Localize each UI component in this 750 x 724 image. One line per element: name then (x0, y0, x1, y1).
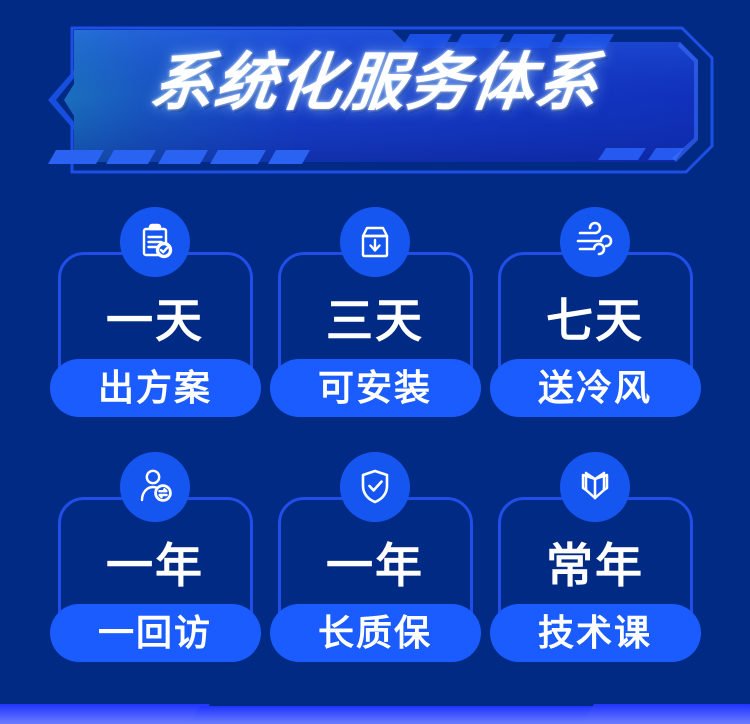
clipboard-check-icon (120, 207, 190, 277)
shield-check-icon (340, 452, 410, 522)
service-card[interactable]: 一天 出方案 (58, 207, 253, 452)
page-title: 系统化服务体系 (0, 46, 750, 120)
card-main-text: 一年 (58, 540, 253, 592)
service-card[interactable]: 三天 可安装 (278, 207, 473, 452)
header-banner: 系统化服务体系 (0, 0, 750, 190)
open-book-icon (560, 452, 630, 522)
card-main-text: 三天 (278, 295, 473, 347)
card-main-text: 常年 (498, 540, 693, 592)
card-pill-label: 一回访 (98, 614, 212, 652)
card-pill[interactable]: 出方案 (50, 359, 261, 417)
card-pill[interactable]: 技术课 (490, 604, 701, 662)
service-card-grid: 一天 出方案 三天 可安装 七天 (55, 207, 695, 697)
next-section-strip (0, 702, 750, 724)
card-pill-label: 技术课 (538, 614, 652, 652)
user-return-icon (120, 452, 190, 522)
card-pill[interactable]: 送冷风 (490, 359, 701, 417)
service-card[interactable]: 常年 技术课 (498, 452, 693, 697)
card-pill-label: 出方案 (98, 369, 212, 407)
service-card[interactable]: 七天 送冷风 (498, 207, 693, 452)
card-pill-label: 可安装 (318, 369, 432, 407)
card-main-text: 七天 (498, 295, 693, 347)
card-pill[interactable]: 一回访 (50, 604, 261, 662)
card-main-text: 一年 (278, 540, 473, 592)
card-pill[interactable]: 长质保 (270, 604, 481, 662)
card-pill-label: 长质保 (318, 614, 432, 652)
card-pill-label: 送冷风 (538, 369, 652, 407)
card-pill[interactable]: 可安装 (270, 359, 481, 417)
card-main-text: 一天 (58, 295, 253, 347)
box-download-icon (340, 207, 410, 277)
wind-icon (560, 207, 630, 277)
service-card[interactable]: 一年 一回访 (58, 452, 253, 697)
next-section-graphic (0, 702, 750, 724)
service-card[interactable]: 一年 长质保 (278, 452, 473, 697)
